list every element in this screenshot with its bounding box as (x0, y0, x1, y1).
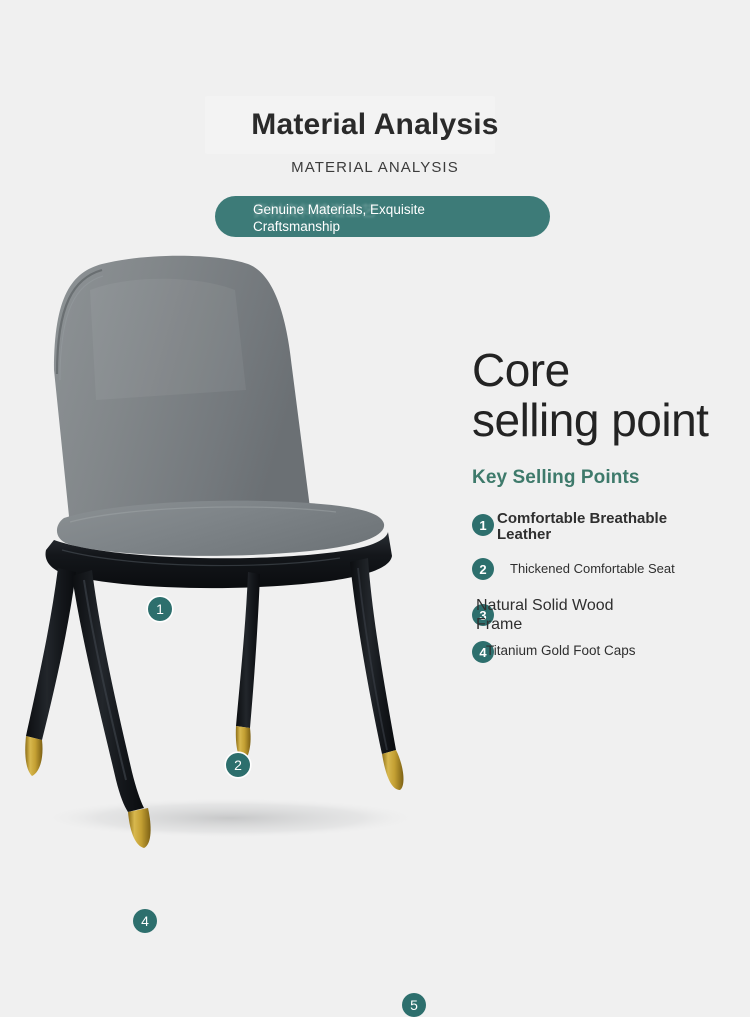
feature-list: 1 Comfortable Breathable Leather 2 Thick… (472, 514, 750, 682)
callout-badge-1[interactable]: 1 (148, 597, 172, 621)
page-header: Material Analysis MATERIAL ANALYSIS 真材实料… (0, 0, 750, 250)
foot-cap-front-left (128, 808, 151, 848)
feature-badge-1: 1 (472, 514, 494, 536)
page-subtitle: MATERIAL ANALYSIS (0, 159, 750, 176)
chair-leg-back-left (26, 568, 76, 740)
page-title: Material Analysis (0, 103, 750, 147)
core-heading: Core selling point (472, 345, 750, 445)
feature-label-1: Comfortable Breathable Leather (497, 511, 677, 543)
foot-cap-front-right (382, 750, 403, 790)
callout-badge-4[interactable]: 4 (133, 909, 157, 933)
selling-points-panel: Core selling point Key Selling Points 1 … (472, 345, 750, 682)
feature-item-3[interactable]: 3 Natural Solid Wood Frame (472, 598, 750, 640)
feature-label-4: Titanium Gold Foot Caps (486, 643, 636, 659)
callout-badge-2[interactable]: 2 (226, 753, 250, 777)
chair-leg-front-right (350, 558, 396, 754)
core-heading-line2: selling point (472, 395, 750, 445)
feature-badge-2: 2 (472, 558, 494, 580)
feature-label-2: Thickened Comfortable Seat (510, 561, 675, 577)
feature-item-2[interactable]: 2 Thickened Comfortable Seat (472, 556, 750, 598)
backrest-sheen (90, 279, 246, 400)
tagline-text: Genuine Materials, Exquisite Craftsmansh… (253, 201, 503, 235)
key-selling-points-label: Key Selling Points (472, 467, 750, 489)
product-detail-page: Material Analysis MATERIAL ANALYSIS 真材实料… (0, 0, 750, 1000)
chair-leg-front-left (72, 570, 144, 812)
floor-shadow (40, 798, 420, 838)
product-photo: 1 2 4 5 (10, 250, 450, 850)
core-heading-line1: Core (472, 344, 570, 396)
chair-leg-back-right (236, 572, 260, 728)
callout-badge-5[interactable]: 5 (402, 993, 426, 1017)
foot-cap-back-left (25, 736, 42, 776)
tagline-banner: 真材实料精湛工艺 Genuine Materials, Exquisite Cr… (215, 196, 550, 237)
feature-label-3: Natural Solid Wood Frame (476, 596, 651, 634)
feature-item-1[interactable]: 1 Comfortable Breathable Leather (472, 514, 750, 556)
feature-item-4[interactable]: 4 Titanium Gold Foot Caps (472, 640, 750, 682)
